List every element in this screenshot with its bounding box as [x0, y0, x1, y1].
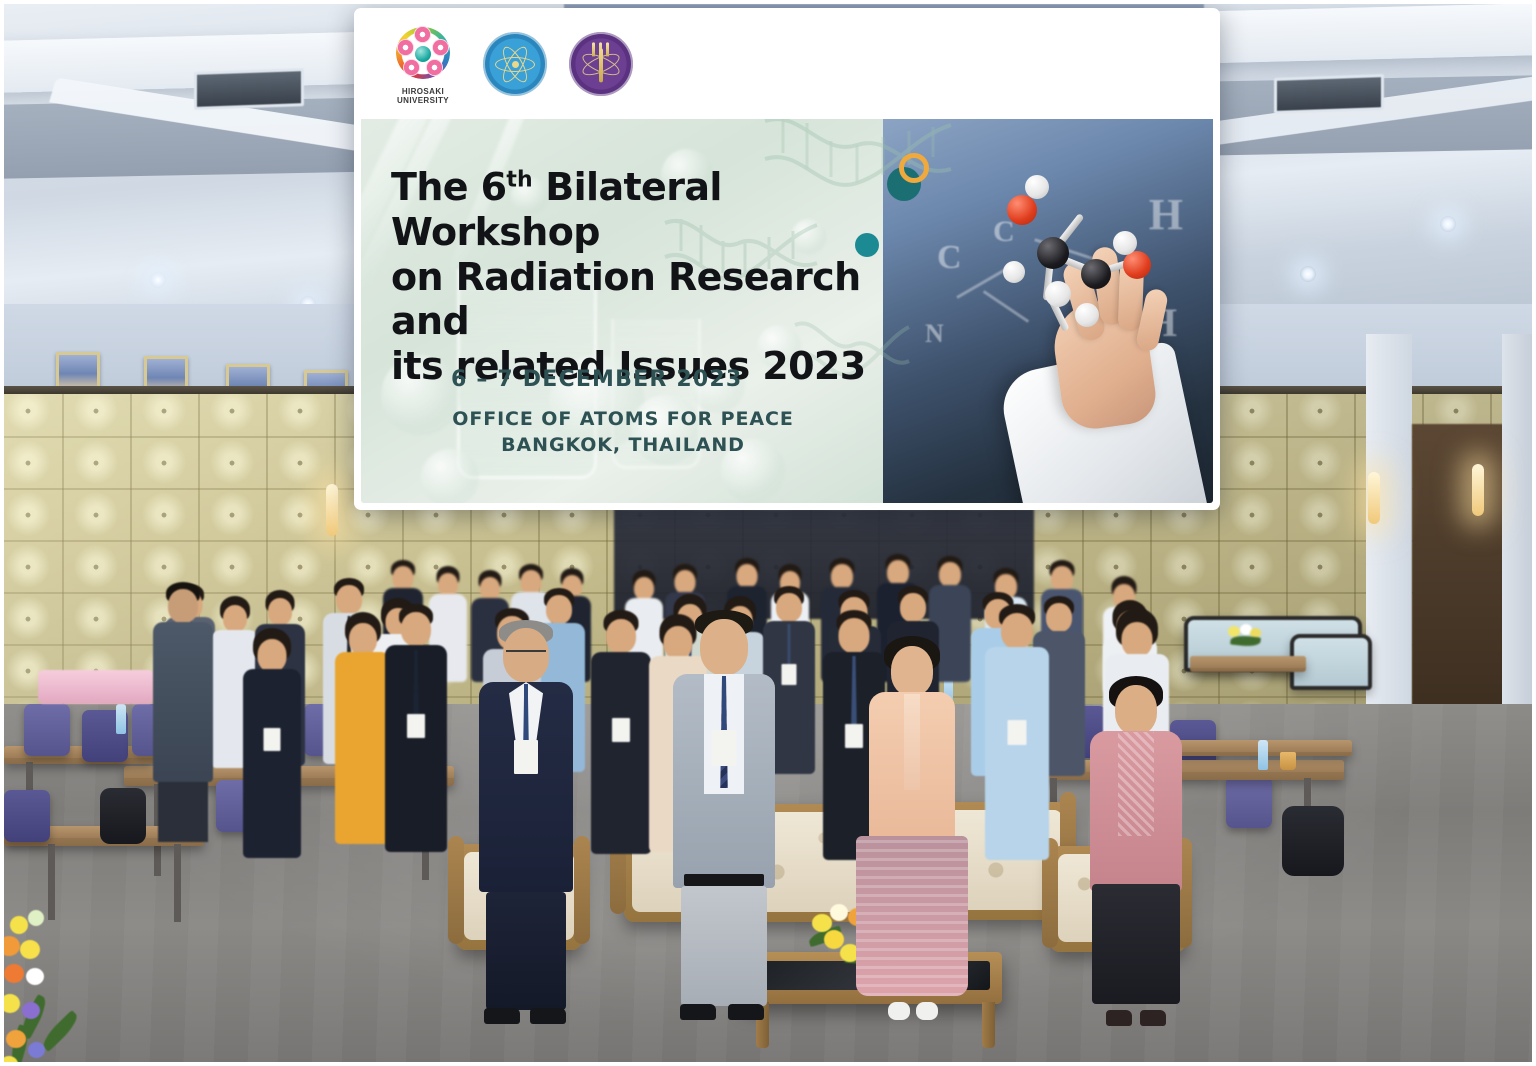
- venue-line2: BANGKOK, THAILAND: [501, 434, 745, 456]
- blouse: [1118, 732, 1154, 836]
- office-of-atoms-for-peace-seal: [483, 32, 547, 96]
- hirosaki-line2: UNIVERSITY: [397, 96, 449, 105]
- stacking-chair: [4, 790, 50, 842]
- stacking-chair: [24, 704, 70, 756]
- wall-sconce: [1472, 464, 1484, 516]
- name-badge: [712, 730, 737, 766]
- backpack: [100, 788, 146, 844]
- thai-agency-trident-seal: [569, 32, 633, 96]
- poster-venue: OFFICE OF ATOMS FOR PEACE BANGKOK, THAIL…: [423, 407, 823, 458]
- hirosaki-line1: HIROSAKI: [402, 87, 444, 96]
- poster-logo-strip: HIROSAKI UNIVERSITY: [361, 15, 1213, 119]
- shoe: [728, 1004, 764, 1020]
- supply-bags: [38, 670, 154, 704]
- hirosaki-logo-text: HIROSAKI UNIVERSITY: [385, 87, 461, 105]
- teal-core-icon: [415, 46, 431, 62]
- front-row-attendee-4: [1088, 676, 1184, 1044]
- flower-bouquet-left: [4, 910, 94, 1062]
- front-row-attendee-2: [672, 610, 776, 1030]
- shoe: [484, 1008, 520, 1024]
- armchair-arm: [448, 836, 464, 944]
- glasses: [506, 650, 546, 660]
- shoe: [1106, 1010, 1132, 1026]
- workshop-poster-banner: HIROSAKI UNIVERSITY: [354, 8, 1220, 510]
- skirt: [856, 836, 968, 996]
- poster-title: The 6th Bilateral Workshop on Radiation …: [391, 165, 911, 389]
- backpack: [1282, 806, 1344, 876]
- right-pillar: [1366, 334, 1412, 734]
- title-line1-a: The 6: [391, 165, 506, 209]
- venue-line1: OFFICE OF ATOMS FOR PEACE: [452, 408, 793, 430]
- table-leg: [982, 1002, 995, 1048]
- ceiling-vent: [1274, 74, 1384, 114]
- shoe: [1140, 1010, 1166, 1026]
- poster-date: 6 – 7 DECEMBER 2023: [451, 367, 742, 392]
- right-doorway: [1412, 424, 1504, 724]
- ceiling-downlight: [1300, 266, 1316, 282]
- sash: [904, 694, 920, 790]
- water-bottle: [116, 704, 126, 734]
- stacking-chair: [1226, 776, 1272, 828]
- table-leg: [48, 844, 55, 920]
- belt: [684, 874, 764, 886]
- attendee: [384, 604, 448, 852]
- flower-bouquet-back-right: [1226, 624, 1266, 650]
- back-low-table-right: [1190, 656, 1306, 672]
- right-wall: [1502, 334, 1532, 734]
- chalk-symbol-N: N: [925, 319, 944, 349]
- name-badge: [514, 740, 538, 774]
- water-bottle: [1258, 740, 1268, 770]
- wall-sconce: [326, 484, 338, 536]
- ceiling-downlight: [150, 272, 166, 288]
- coffee-cup: [1280, 752, 1296, 770]
- molecular-model: [989, 189, 1169, 369]
- ceiling-vent: [194, 68, 304, 110]
- shoe: [916, 1002, 938, 1020]
- hirosaki-university-logo: HIROSAKI UNIVERSITY: [385, 25, 461, 103]
- skirt: [1092, 884, 1180, 1004]
- front-row-attendee-3: [864, 636, 960, 1034]
- chalk-symbol-C: C: [937, 239, 962, 277]
- attendee: [984, 604, 1050, 860]
- shoe: [530, 1008, 566, 1024]
- armchair-arm: [574, 836, 590, 944]
- wall-sconce: [1368, 472, 1380, 524]
- title-ordinal-suffix: th: [506, 167, 532, 192]
- ceiling-downlight: [1440, 216, 1456, 232]
- table-leg: [174, 844, 181, 922]
- front-row-attendee-1: [478, 620, 574, 1032]
- front-row-attendee-5: [152, 582, 214, 842]
- shoe: [680, 1004, 716, 1020]
- shoe: [888, 1002, 910, 1020]
- attendee: [590, 610, 652, 854]
- attendee: [242, 628, 302, 858]
- title-line2: on Radiation Research and: [391, 255, 911, 345]
- screenshot-root: HIROSAKI UNIVERSITY: [0, 0, 1536, 1066]
